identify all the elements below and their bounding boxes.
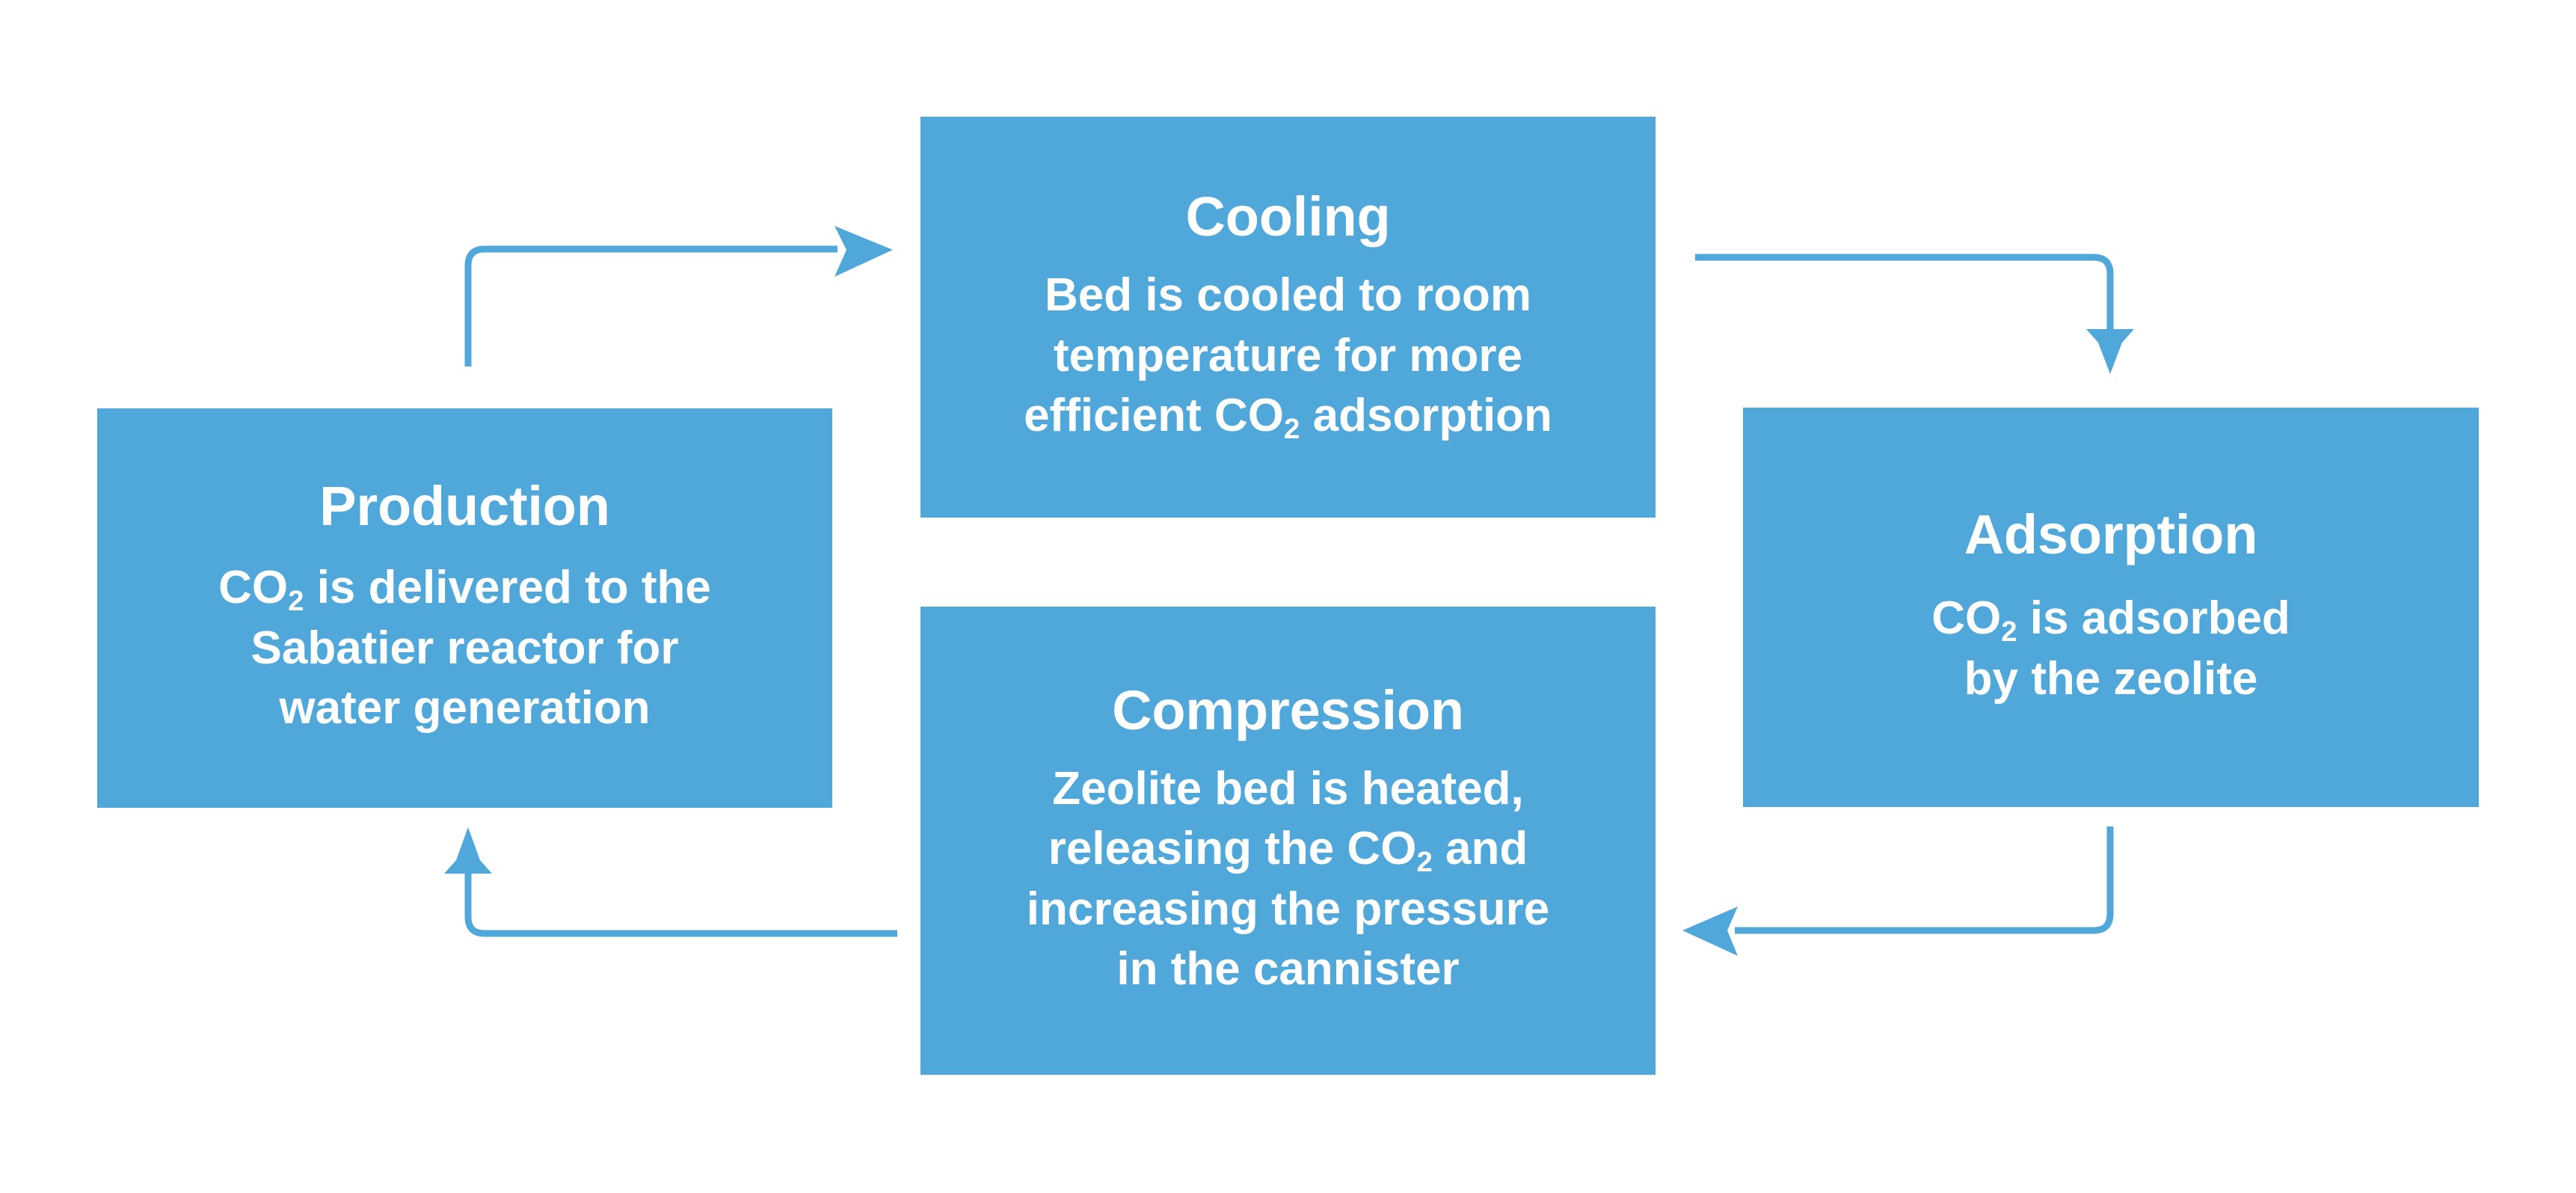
cooling-line3-post: adsorption [1300,390,1552,441]
compression-line2-pre: releasing the CO [1048,823,1417,874]
production-line2: Sabatier reactor for [250,622,678,674]
arrowhead-left [1682,907,1738,956]
flow-box-adsorption-body: CO2 is adsorbedby the zeolite [1931,589,2290,709]
production-line3: water generation [279,682,650,734]
flow-box-cooling-body: Bed is cooled to roomtemperature for mor… [1024,266,1552,447]
compression-line2-post: and [1433,823,1528,874]
flow-box-adsorption[interactable]: Adsorption CO2 is adsorbedby the zeolite [1743,408,2479,807]
flow-box-cooling-title: Cooling [1186,188,1391,246]
adsorption-co2-subscript: 2 [2001,616,2017,648]
production-line1-rest: is delivered to the [304,562,710,613]
cooling-line1: Bed is cooled to room [1045,269,1531,321]
cooling-line3-pre: efficient CO [1024,390,1284,441]
flow-box-compression-body: Zeolite bed is heated,releasing the CO2 … [1027,759,1550,1000]
cooling-co2-subscript: 2 [1284,413,1300,445]
compression-line3: increasing the pressure [1027,883,1550,935]
flow-diagram-canvas: Production CO2 is delivered to theSabati… [0,0,2576,1193]
flow-box-compression-title: Compression [1112,681,1464,740]
arrow-compression-to-production [444,827,897,933]
arrow-cooling-to-adsorption [1695,257,2134,374]
adsorption-line1-pre: CO [1931,592,2001,644]
flow-box-cooling[interactable]: Cooling Bed is cooled to roomtemperature… [920,117,1656,518]
compression-line4: in the cannister [1116,943,1459,995]
flow-box-production[interactable]: Production CO2 is delivered to theSabati… [97,408,832,808]
flow-box-production-body: CO2 is delivered to theSabatier reactor … [218,558,711,739]
flow-box-compression[interactable]: Compression Zeolite bed is heated,releas… [920,607,1656,1075]
flow-box-production-title: Production [319,477,610,536]
adsorption-line2: by the zeolite [1964,653,2258,705]
production-co2-subscript: 2 [288,585,304,617]
production-co2-prefix: CO [218,562,288,613]
compression-line1: Zeolite bed is heated, [1052,763,1523,815]
arrow-production-to-cooling [468,226,893,367]
compression-co2-subscript: 2 [1416,846,1432,878]
arrow-adsorption-to-compression [1682,826,2110,956]
cooling-line2: temperature for more [1054,330,1522,381]
adsorption-line1-post: is adsorbed [2017,592,2290,644]
arrowhead-right [834,226,893,277]
flow-box-adsorption-title: Adsorption [1964,506,2258,564]
